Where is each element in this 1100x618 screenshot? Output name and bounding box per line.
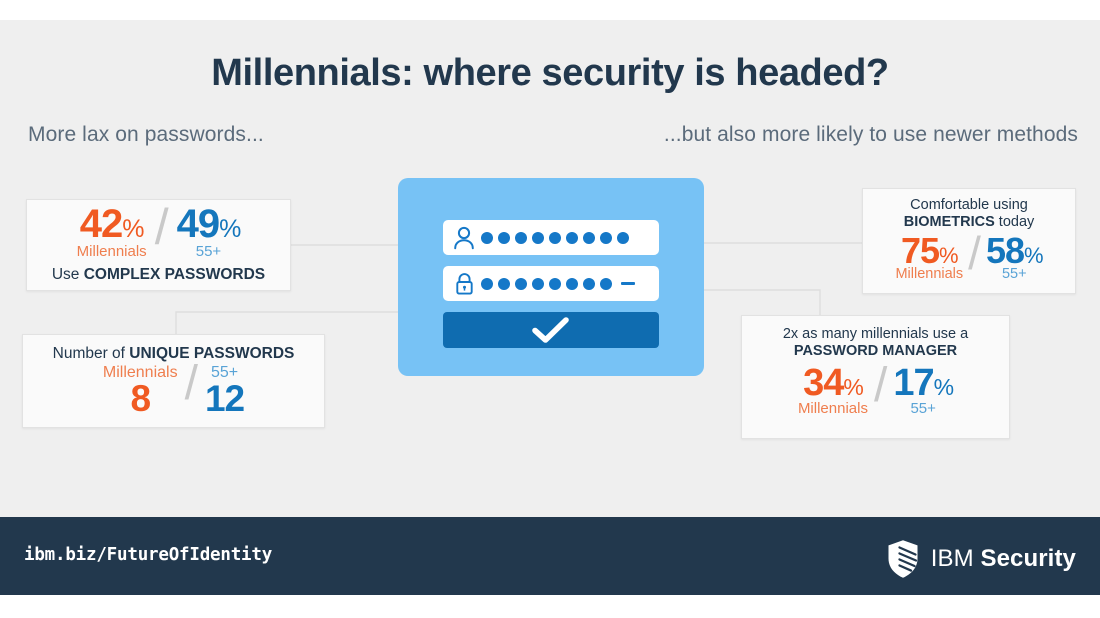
person-icon — [447, 226, 481, 250]
stat-card-biometrics: Comfortable usingBIOMETRICS today 75% Mi… — [862, 188, 1076, 294]
text-caret — [621, 282, 635, 285]
username-field[interactable] — [443, 220, 659, 255]
login-panel-illustration — [398, 178, 704, 376]
stat-card-password-manager: 2x as many millennials use aPASSWORD MAN… — [741, 315, 1010, 439]
older-stat: 17% 55+ — [893, 366, 953, 418]
check-icon — [530, 315, 572, 345]
submit-button[interactable] — [443, 312, 659, 348]
ratio-divider: / — [968, 232, 981, 274]
logo-wordmark: IBM Security — [931, 545, 1076, 573]
subtitle-left: More lax on passwords... — [28, 123, 264, 147]
older-stat: 49% 55+ — [177, 206, 241, 260]
password-masked-value — [481, 278, 635, 290]
logo-product: Security — [980, 545, 1076, 572]
footer-url-link[interactable]: ibm.biz/FutureOfIdentity — [24, 545, 272, 565]
ratio-divider: / — [874, 364, 887, 408]
millennials-stat: Millennials 8 — [103, 364, 178, 416]
older-stat: 58% 55+ — [986, 234, 1043, 284]
card-caption: Comfortable usingBIOMETRICS today — [863, 197, 1075, 231]
password-field[interactable] — [443, 266, 659, 301]
ratio-divider: / — [185, 362, 198, 406]
millennials-stat: 34% Millennials — [798, 366, 868, 418]
card-caption: Number of UNIQUE PASSWORDS — [23, 345, 324, 363]
ratio-divider: / — [155, 204, 169, 250]
card-caption: Use COMPLEX PASSWORDS — [27, 266, 290, 284]
millennials-stat: 75% Millennials — [895, 234, 963, 284]
footer-bar: ibm.biz/FutureOfIdentity IBM Security — [0, 517, 1100, 595]
username-masked-value — [481, 232, 629, 244]
stat-card-complex-passwords: 42% Millennials / 49% 55+ Use COMPLEX PA… — [26, 199, 291, 291]
lock-icon — [447, 272, 481, 296]
ibm-security-shield-icon — [886, 539, 920, 579]
millennials-stat: 42% Millennials — [77, 206, 147, 260]
older-stat: 55+ 12 — [205, 364, 244, 416]
page-title: Millennials: where security is headed? — [0, 52, 1100, 95]
logo-brand: IBM — [931, 545, 974, 572]
infographic-root: Millennials: where security is headed? M… — [0, 0, 1100, 618]
card-caption: 2x as many millennials use aPASSWORD MAN… — [742, 326, 1009, 360]
ibm-security-logo: IBM Security — [886, 539, 1076, 579]
subtitle-right: ...but also more likely to use newer met… — [664, 123, 1078, 147]
stat-card-unique-passwords: Number of UNIQUE PASSWORDS Millennials 8… — [22, 334, 325, 428]
